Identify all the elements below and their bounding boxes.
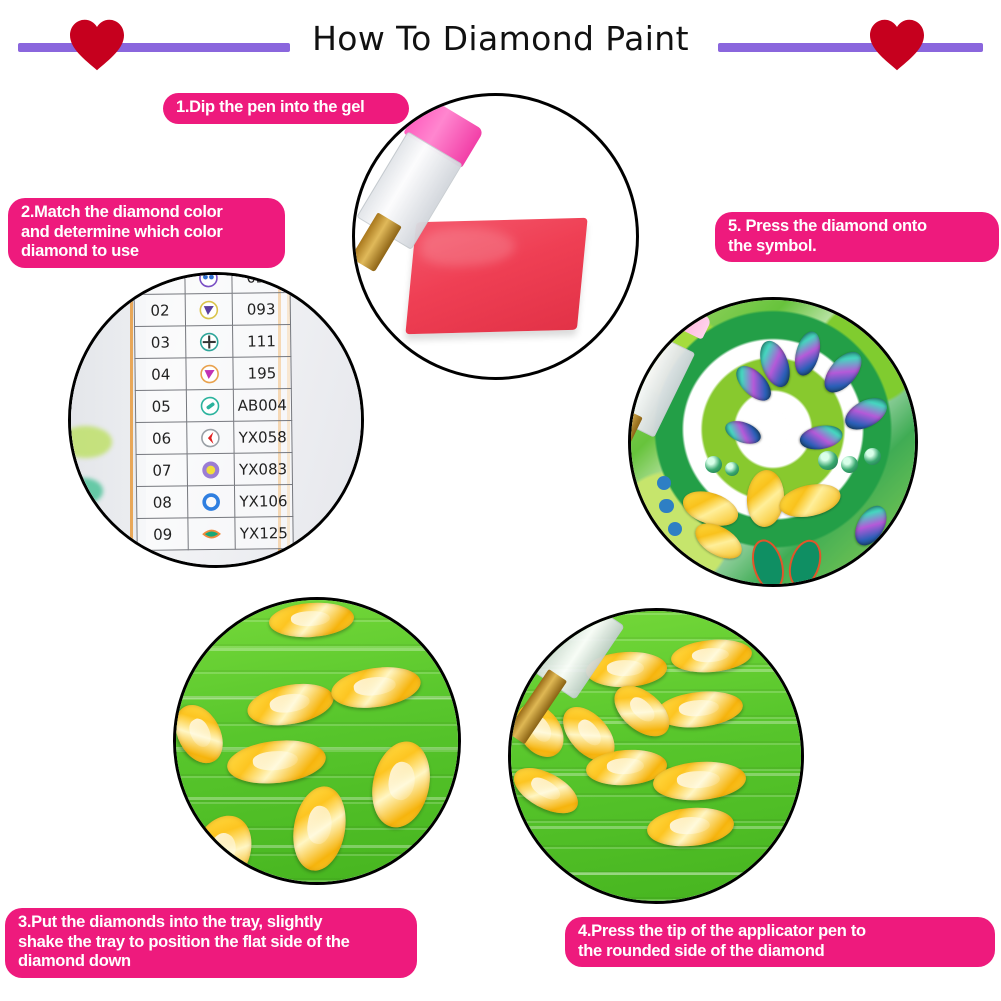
purple-triangle-circle-icon: [199, 299, 219, 319]
table-row: 02 093: [134, 292, 290, 326]
teal-slash-circle-icon: [200, 395, 220, 415]
row-number: 06: [135, 421, 187, 454]
round-gem: [705, 456, 722, 473]
row-code: YX106: [234, 484, 292, 517]
step-4-line-1: 4.Press the tip of the applicator pen to: [578, 922, 866, 940]
blue-dot-symbol: [659, 499, 673, 513]
table-row: 04 195: [135, 356, 291, 390]
row-number: 04: [135, 357, 187, 390]
row-number: 07: [136, 453, 188, 486]
gel-pad: [406, 217, 589, 334]
row-code: AB004: [233, 388, 291, 421]
blue-double-dot-circle-icon: [198, 272, 218, 287]
mandala-press-scene: [631, 300, 915, 584]
magenta-triangle-circle-icon: [199, 363, 219, 383]
page-header: How To Diamond Paint: [0, 0, 1001, 90]
step-4-line-2: the rounded side of the diamond: [578, 942, 824, 960]
step-2-line-3: diamond to use: [21, 242, 139, 260]
row-symbol: [186, 357, 233, 390]
step-3-line-3: diamond down: [18, 952, 131, 970]
row-number: 03: [134, 325, 186, 358]
color-code-table: 020 02 093 03: [133, 272, 293, 550]
step-2-label: 2.Match the diamond color and determine …: [8, 198, 285, 268]
tray-ridge: [176, 648, 458, 651]
plus-circle-icon: [199, 331, 219, 351]
page-title: How To Diamond Paint: [0, 17, 1001, 61]
step-1-photo: [352, 93, 639, 380]
row-symbol: [187, 453, 234, 486]
row-symbol: [185, 293, 232, 326]
row-symbol: [186, 389, 233, 422]
table-row: 06 YX058: [135, 420, 291, 454]
row-number: 02: [134, 293, 186, 326]
step-2-photo: 020 02 093 03: [68, 272, 364, 568]
yellow-dot-purple-ring-icon: [201, 459, 221, 479]
step-3-line-2: shake the tray to position the flat side…: [18, 933, 350, 951]
step-5-photo: [628, 297, 918, 587]
step-5-label: 5. Press the diamond onto the symbol.: [715, 212, 999, 262]
table-row: 09 YX125: [137, 516, 293, 550]
color-chart-scene: 020 02 093 03: [71, 275, 361, 565]
canvas-print-blob: [68, 426, 112, 458]
color-code-table-body: 020 02 093 03: [134, 272, 293, 550]
step-4-photo: [508, 608, 804, 904]
step-2-line-1: 2.Match the diamond color: [21, 203, 223, 221]
blue-dot-symbol: [657, 476, 671, 490]
table-row: 07 YX083: [136, 452, 292, 486]
table-row: 020: [134, 272, 290, 294]
step-2-line-2: and determine which color: [21, 223, 223, 241]
step-3-line-1: 3.Put the diamonds into the tray, slight…: [18, 913, 322, 931]
tray-ridge: [511, 872, 801, 875]
row-code: 111: [232, 324, 290, 357]
row-symbol: [188, 485, 235, 518]
row-symbol: [185, 272, 232, 293]
table-row: 03 111: [134, 324, 290, 358]
step-3-label: 3.Put the diamonds into the tray, slight…: [5, 908, 417, 978]
row-code: YX058: [234, 420, 292, 453]
blue-ring-icon: [201, 491, 221, 511]
step-5-line-2: the symbol.: [728, 237, 816, 255]
blue-dot-symbol: [668, 522, 682, 536]
table-row: 05 AB004: [135, 388, 291, 422]
row-number: 05: [135, 389, 187, 422]
row-number: 08: [136, 485, 188, 518]
red-arrow-circle-icon: [200, 427, 220, 447]
row-code: 020: [232, 272, 290, 293]
row-code: YX083: [234, 452, 292, 485]
step-5-line-1: 5. Press the diamond onto: [728, 217, 927, 235]
row-symbol: [186, 325, 233, 358]
row-code: YX125: [235, 516, 293, 549]
green-leaf-orange-outline-icon: [201, 523, 221, 543]
table-row: 08 YX106: [136, 484, 292, 518]
row-number: [134, 272, 186, 294]
step-4-label: 4.Press the tip of the applicator pen to…: [565, 917, 995, 967]
round-gem: [864, 448, 881, 465]
row-number: 09: [137, 517, 189, 550]
diamond-tray-scene: [176, 600, 458, 882]
diamond-pickup-scene: [511, 611, 801, 901]
row-code: 195: [233, 356, 291, 389]
row-symbol: [188, 517, 235, 550]
step-3-photo: [173, 597, 461, 885]
row-code: 093: [232, 292, 290, 325]
gel-dip-scene: [355, 96, 636, 377]
row-symbol: [187, 421, 234, 454]
round-gem: [725, 462, 739, 476]
